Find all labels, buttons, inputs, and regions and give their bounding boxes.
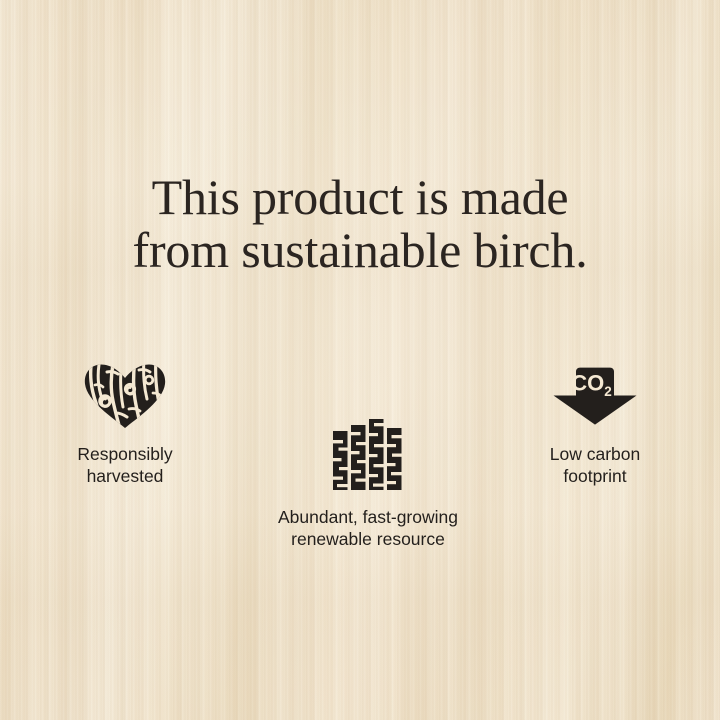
headline-line-1: This product is made bbox=[0, 171, 720, 224]
co2-subscript: 2 bbox=[604, 384, 612, 399]
feature-renewable-label-line-1: Abundant, fast-growing bbox=[243, 506, 493, 528]
feature-renewable-resource: Abundant, fast-growing renewable resourc… bbox=[243, 418, 493, 550]
feature-renewable-label-line-2: renewable resource bbox=[243, 528, 493, 550]
feature-responsibly-harvested: Responsibly harvested bbox=[25, 363, 225, 487]
headline-line-2: from sustainable birch. bbox=[0, 224, 720, 277]
feature-harvested-label: Responsibly harvested bbox=[25, 443, 225, 487]
co2-label: CO bbox=[571, 371, 604, 396]
wood-band-texture bbox=[0, 0, 720, 720]
wood-grain-heart-icon bbox=[83, 363, 167, 429]
co2-down-arrow-icon: CO2 bbox=[552, 367, 638, 425]
birch-panel-graphic: This product is made from sustainable bi… bbox=[0, 0, 720, 720]
feature-renewable-label: Abundant, fast-growing renewable resourc… bbox=[243, 506, 493, 550]
page-title: This product is made from sustainable bi… bbox=[0, 171, 720, 277]
feature-harvested-label-line-1: Responsibly bbox=[25, 443, 225, 465]
feature-carbon-label-line-2: footprint bbox=[495, 465, 695, 487]
feature-low-carbon-footprint: CO2 Low carbon footprint bbox=[495, 367, 695, 487]
feature-harvested-label-line-2: harvested bbox=[25, 465, 225, 487]
feature-carbon-label: Low carbon footprint bbox=[495, 443, 695, 487]
feature-carbon-label-line-1: Low carbon bbox=[495, 443, 695, 465]
birch-trunks-icon bbox=[332, 418, 404, 490]
